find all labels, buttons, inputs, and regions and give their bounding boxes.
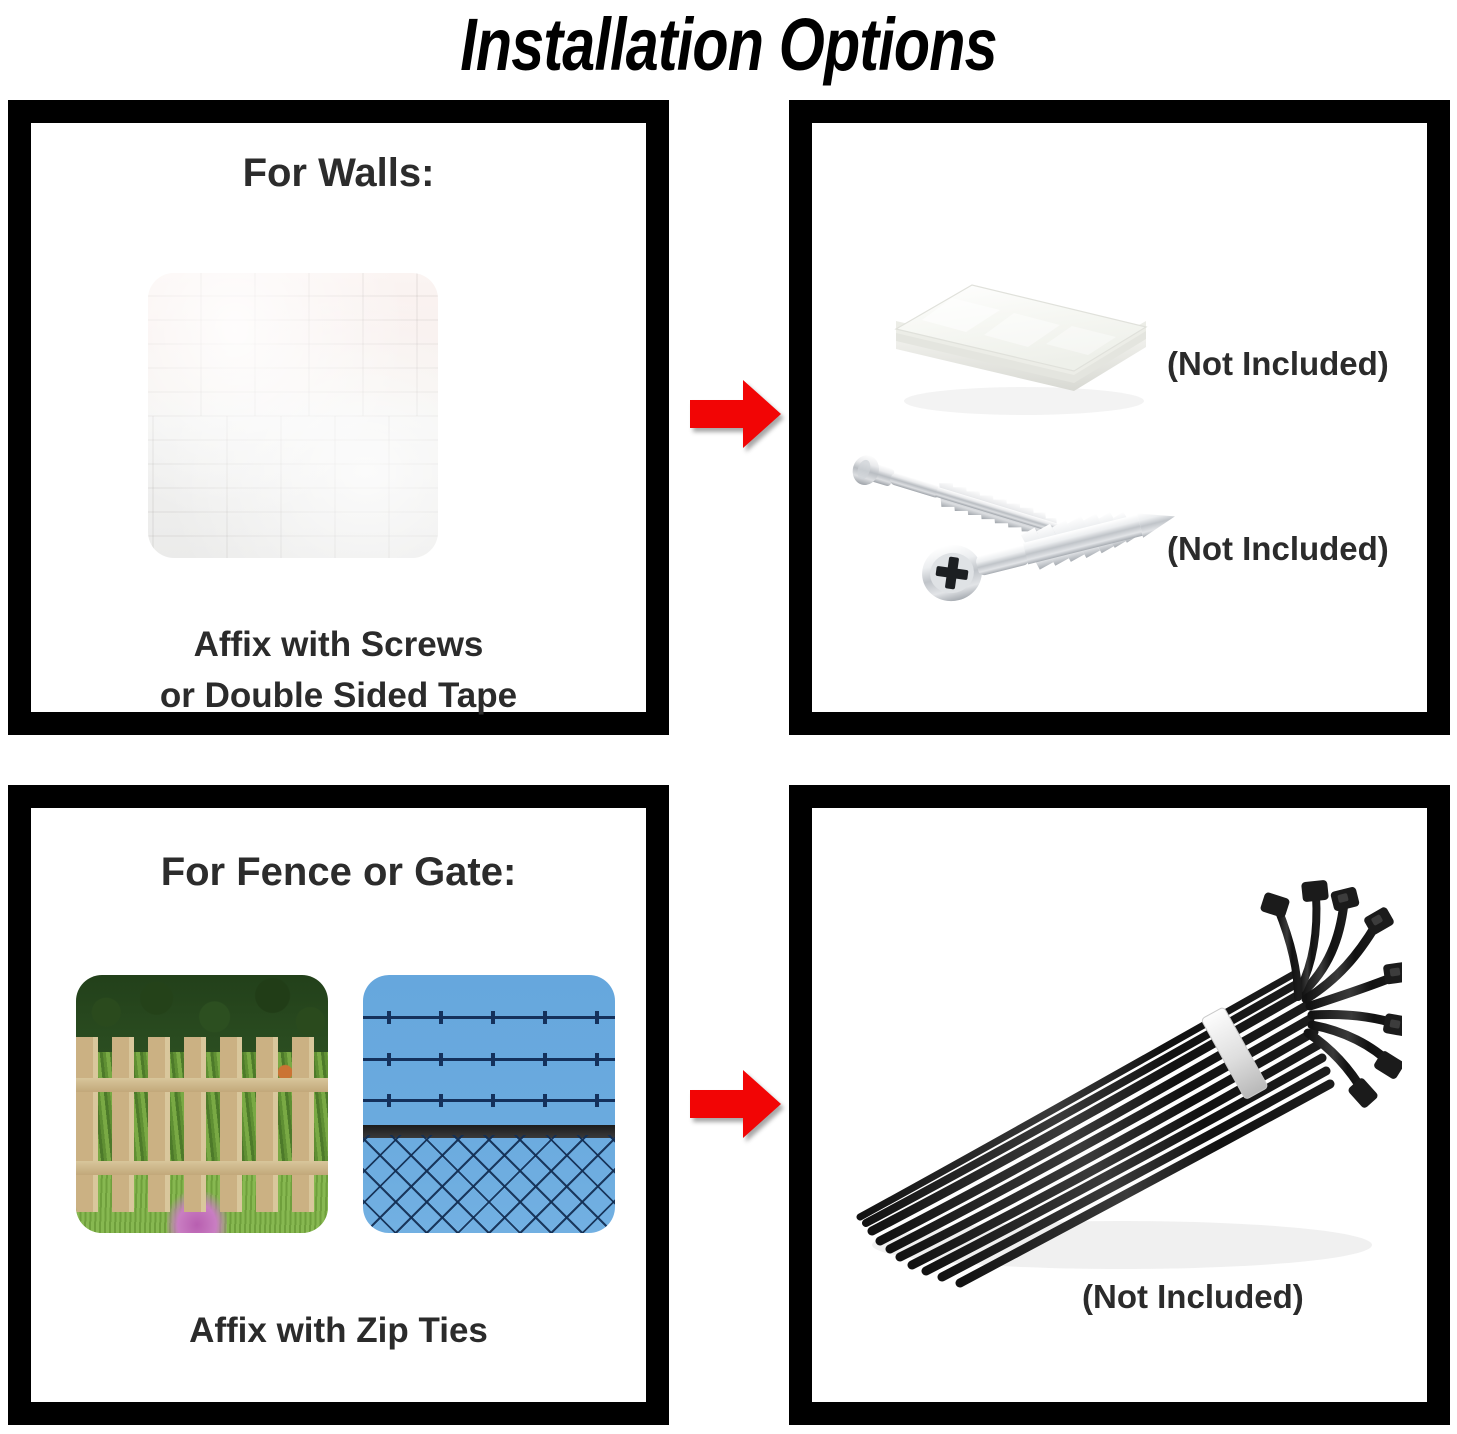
caption-walls-line2: or Double Sided Tape [31, 671, 646, 722]
ziptie-not-included-label: (Not Included) [1082, 1278, 1304, 1316]
fence-photo-chain-link [363, 975, 615, 1233]
screw-not-included-label: (Not Included) [1167, 530, 1389, 568]
fence-rail-top [76, 1078, 328, 1092]
page-title: Installation Options [146, 0, 1312, 90]
panel-wall-hardware: (Not Included) [789, 100, 1450, 735]
panel-fence-hardware: (Not Included) [789, 785, 1450, 1425]
wall-photo-brick [148, 273, 438, 558]
panel-for-walls: For Walls: Affix with Screws or Double S… [8, 100, 669, 735]
double-sided-tape-stack-image [874, 241, 1164, 421]
caption-walls: Affix with Screws or Double Sided Tape [31, 620, 646, 722]
barbed-wire-1 [363, 1016, 615, 1019]
caption-walls-line1: Affix with Screws [31, 620, 646, 671]
zip-tie-bundle-image [832, 873, 1402, 1293]
caption-fence: Affix with Zip Ties [31, 1306, 646, 1357]
chain-link-mesh [363, 1135, 615, 1233]
right-arrow-icon [686, 1068, 784, 1140]
panel-for-fence-or-gate: For Fence or Gate: Affix with Zip Ties [8, 785, 669, 1425]
panel-heading-walls: For Walls: [31, 151, 646, 196]
fence-pickets [76, 1037, 328, 1212]
tape-not-included-label: (Not Included) [1167, 345, 1389, 383]
right-arrow-icon [686, 378, 784, 450]
brick-highlight [148, 273, 438, 558]
fence-photo-wooden-picket [76, 975, 328, 1233]
fence-rail-bottom [76, 1161, 328, 1175]
barbed-wire-2 [363, 1058, 615, 1061]
panel-heading-fence: For Fence or Gate: [31, 850, 646, 895]
wood-screws-image [832, 433, 1192, 623]
barbed-wire-3 [363, 1099, 615, 1102]
